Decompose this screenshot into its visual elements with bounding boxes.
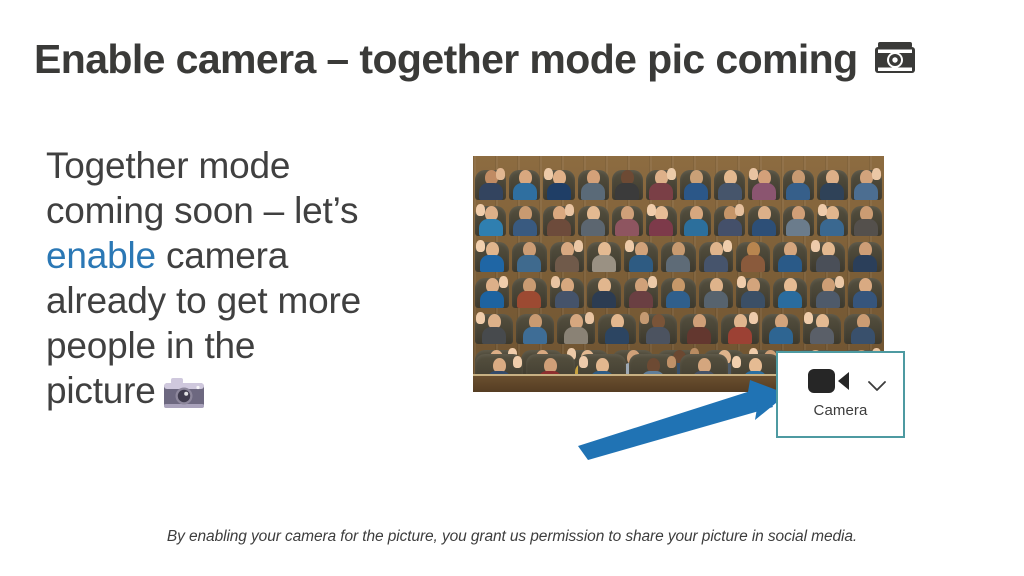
participant-group <box>473 160 884 200</box>
seat-row <box>473 232 884 272</box>
participant-group <box>473 304 884 344</box>
camera-button-label: Camera <box>778 402 903 419</box>
chevron-down-icon[interactable] <box>867 379 887 393</box>
body-line-6: picture <box>46 370 156 411</box>
video-camera-icon <box>807 366 851 396</box>
body-line-4: already to get more <box>46 280 361 321</box>
body-paragraph: Together mode coming soon – let’s enable… <box>46 143 441 413</box>
participant-group <box>473 268 884 308</box>
pointer-arrow <box>575 380 810 460</box>
page-title-text: Enable camera – together mode pic coming <box>34 36 858 83</box>
slide-canvas: Enable camera – together mode pic coming… <box>0 0 1024 576</box>
participant-group <box>473 232 884 272</box>
body-line-2: coming soon – let’s <box>46 190 358 231</box>
camera-button[interactable]: Camera <box>776 351 905 438</box>
page-title: Enable camera – together mode pic coming <box>34 27 984 91</box>
seat-row <box>473 160 884 200</box>
body-line-5: people in the <box>46 325 255 366</box>
participant-group <box>473 196 884 236</box>
camera-icon <box>872 39 918 79</box>
camera-photo-emoji-icon <box>162 375 206 411</box>
body-accent-word: enable <box>46 235 156 276</box>
body-line-3-rest: camera <box>156 235 288 276</box>
seat-row <box>473 196 884 236</box>
body-line-1: Together mode <box>46 145 290 186</box>
seat-row <box>473 268 884 308</box>
footer-disclaimer: By enabling your camera for the picture,… <box>0 528 1024 546</box>
seat-row <box>473 304 884 344</box>
